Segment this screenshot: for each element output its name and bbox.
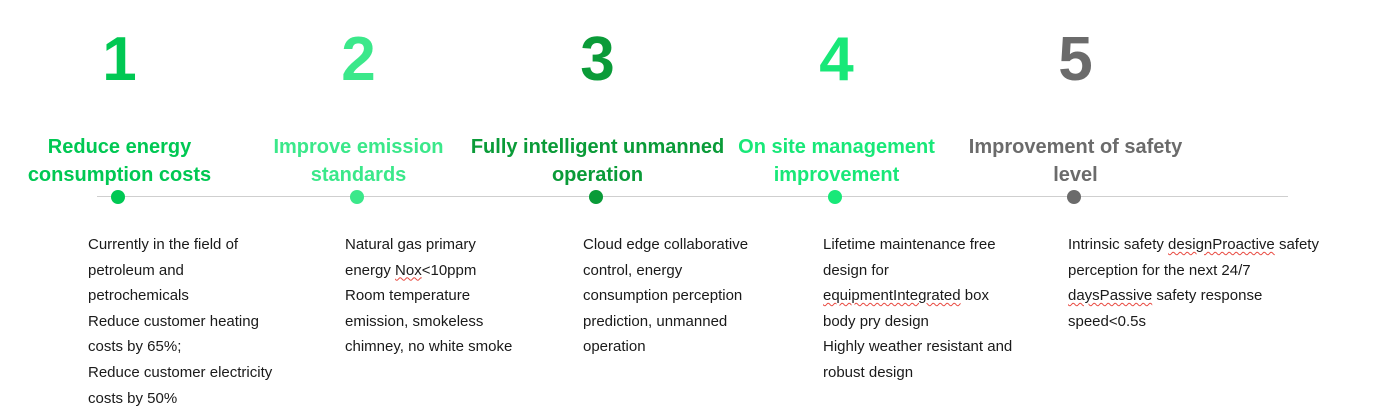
- step-heading-5: Improvement of safety level: [948, 133, 1203, 189]
- step-number-4: 4: [717, 26, 956, 94]
- timeline-step-1: 1 Reduce energy consumption costs Curren…: [0, 0, 239, 407]
- timeline-step-3: 3 Fully intelligent unmanned operation C…: [478, 0, 717, 407]
- timeline-step-4: 4 On site management improvement Lifetim…: [717, 0, 956, 407]
- step-dot-5: [1067, 190, 1081, 204]
- step-heading-4: On site management improvement: [709, 133, 964, 189]
- step-dot-4: [828, 190, 842, 204]
- step-body-5: Intrinsic safety designProactive safety …: [1068, 232, 1326, 334]
- timeline-infographic: 1 Reduce energy consumption costs Curren…: [0, 0, 1389, 407]
- step-dot-1: [111, 190, 125, 204]
- step-heading-1: Reduce energy consumption costs: [0, 133, 247, 189]
- step-dot-3: [589, 190, 603, 204]
- timeline-step-5: 5 Improvement of safety level Intrinsic …: [956, 0, 1195, 407]
- step-dot-2: [350, 190, 364, 204]
- step-number-5: 5: [956, 26, 1195, 94]
- step-number-3: 3: [478, 26, 717, 94]
- timeline-steps-container: 1 Reduce energy consumption costs Curren…: [0, 0, 1389, 407]
- step-heading-3: Fully intelligent unmanned operation: [470, 133, 725, 189]
- step-number-2: 2: [239, 26, 478, 94]
- timeline-step-2: 2 Improve emission standards Natural gas…: [239, 0, 478, 407]
- step-heading-2: Improve emission standards: [231, 133, 486, 189]
- step-number-1: 1: [0, 26, 239, 94]
